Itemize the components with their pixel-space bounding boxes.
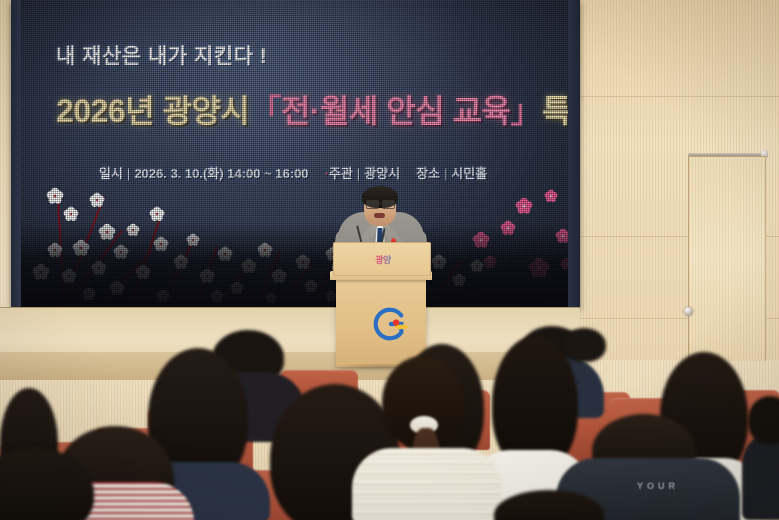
speaker-glasses-icon xyxy=(365,200,395,207)
jacket-text: YOUR xyxy=(637,481,679,491)
info-host-value: 광양시 xyxy=(364,166,400,181)
info-place-value: 시민홀 xyxy=(451,166,487,181)
blossom-icon xyxy=(515,197,533,215)
banner-info-line: 일시|2026. 3. 10.(화) 14:00 ~ 16:00·주관|광양시장… xyxy=(99,163,487,182)
blossom-icon xyxy=(46,187,64,205)
blossom-icon xyxy=(89,192,105,208)
blossom-icon xyxy=(149,206,165,222)
door-knob-icon[interactable] xyxy=(684,307,693,316)
screen-bezel-left xyxy=(11,0,21,308)
blossom-icon xyxy=(63,206,79,222)
event-photo: 내 재산은 내가 지킨다 ! 2026년 광양시「전·월세 안심 교육」특강 일… xyxy=(0,0,779,520)
info-date-value: 2026. 3. 10.(화) 14:00 ~ 16:00 xyxy=(134,166,308,181)
led-screen-banner: 내 재산은 내가 지킨다 ! 2026년 광양시「전·월세 안심 교육」특강 일… xyxy=(11,0,580,308)
banner-title-part1: 2026년 광양시 xyxy=(56,93,249,129)
speaker-mouth xyxy=(374,213,385,218)
info-date-label: 일시 xyxy=(99,166,123,181)
info-sep: | xyxy=(357,166,360,181)
banner-title-highlight: 전·월세 안심 교육 xyxy=(281,93,511,129)
banner-title: 2026년 광양시「전·월세 안심 교육」특강 xyxy=(56,86,580,132)
blossom-icon xyxy=(544,189,558,203)
info-host-label: 주관 xyxy=(329,166,353,181)
banner-bracket-open: 「 xyxy=(249,93,281,129)
podium-brand-text: 광양 xyxy=(348,250,418,270)
audience-area xyxy=(0,330,779,520)
screen-gradient-bottom xyxy=(11,222,580,308)
banner-headline: 내 재산은 내가 지킨다 ! xyxy=(56,40,267,70)
info-sep: | xyxy=(444,166,447,181)
info-sep: | xyxy=(127,166,130,181)
info-place-label: 장소 xyxy=(416,166,440,181)
screen-bezel-right xyxy=(568,0,580,308)
banner-bracket-close: 」 xyxy=(510,93,542,129)
wall-seam xyxy=(580,96,779,97)
